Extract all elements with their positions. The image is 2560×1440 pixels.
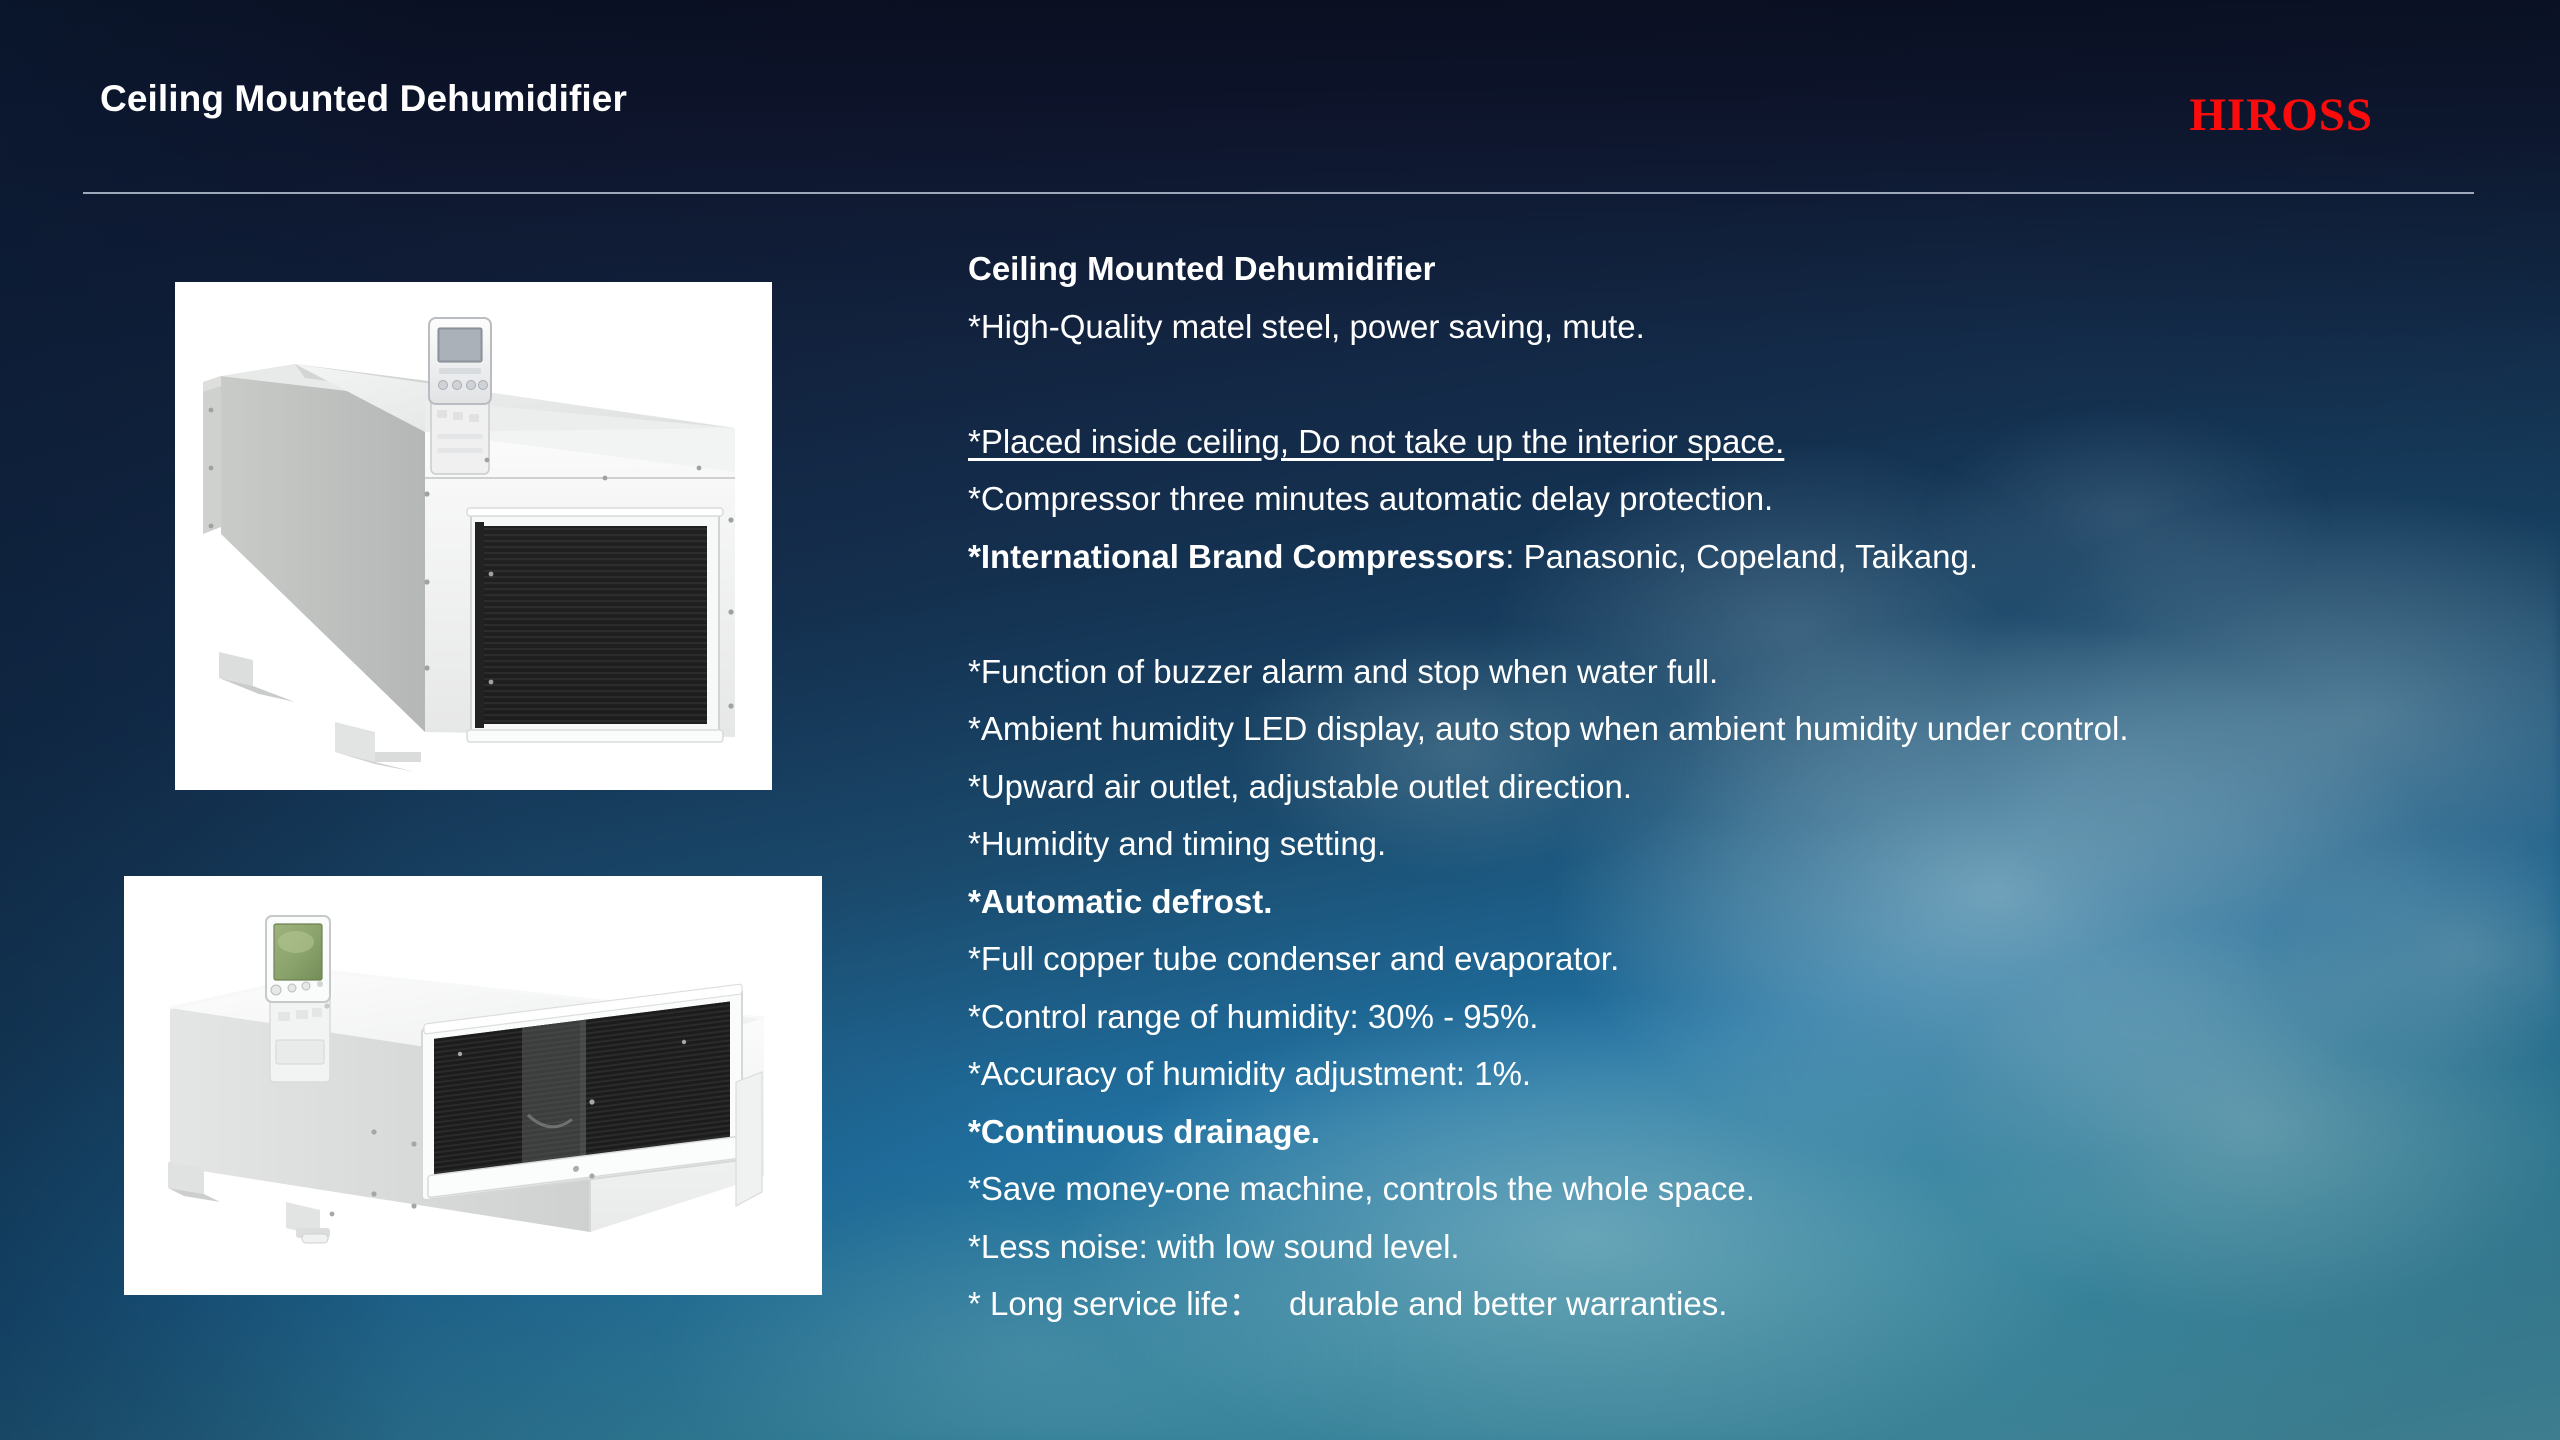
feature-line-7: *Upward air outlet, adjustable outlet di…: [968, 758, 2428, 816]
feature-line-14: *Save money-one machine, controls the wh…: [968, 1160, 2428, 1218]
feature-list: Ceiling Mounted Dehumidifier *High-Quali…: [968, 240, 2428, 1333]
feature-line-8: *Humidity and timing setting.: [968, 815, 2428, 873]
feature-line-16: * Long service life： durable and better …: [968, 1275, 2428, 1333]
feature-spacer-1: [968, 355, 2428, 413]
slide-canvas: Ceiling Mounted Dehumidifier HIROSS: [0, 0, 2560, 1440]
feature-line-9: *Automatic defrost.: [968, 873, 2428, 931]
feature-line-11: *Control range of humidity: 30% - 95%.: [968, 988, 2428, 1046]
ceiling-dehumidifier-flat-view-illustration: [124, 876, 822, 1295]
feature-heading: Ceiling Mounted Dehumidifier: [968, 240, 2428, 298]
feature-line-13: *Continuous drainage.: [968, 1103, 2428, 1161]
feature-line-5: *Function of buzzer alarm and stop when …: [968, 643, 2428, 701]
brand-logo: HIROSS: [2189, 88, 2373, 142]
feature-line-4: *International Brand Compressors: Panaso…: [968, 528, 2428, 586]
product-image-2: [124, 876, 822, 1295]
page-title: Ceiling Mounted Dehumidifier: [100, 78, 627, 120]
header-divider: [83, 192, 2474, 194]
ceiling-dehumidifier-angled-view-illustration: [175, 282, 772, 790]
feature-line-12: *Accuracy of humidity adjustment: 1%.: [968, 1045, 2428, 1103]
feature-line-4-rest: : Panasonic, Copeland, Taikang.: [1505, 538, 1978, 575]
feature-line-15: *Less noise: with low sound level.: [968, 1218, 2428, 1276]
feature-spacer-2: [968, 585, 2428, 643]
feature-line-4-strong: *International Brand Compressors: [968, 538, 1505, 575]
feature-line-1: *High-Quality matel steel, power saving,…: [968, 298, 2428, 356]
product-image-1: [175, 282, 772, 790]
feature-line-2: *Placed inside ceiling, Do not take up t…: [968, 413, 2428, 471]
feature-line-6: *Ambient humidity LED display, auto stop…: [968, 700, 2428, 758]
feature-line-3: *Compressor three minutes automatic dela…: [968, 470, 2428, 528]
feature-line-10: *Full copper tube condenser and evaporat…: [968, 930, 2428, 988]
